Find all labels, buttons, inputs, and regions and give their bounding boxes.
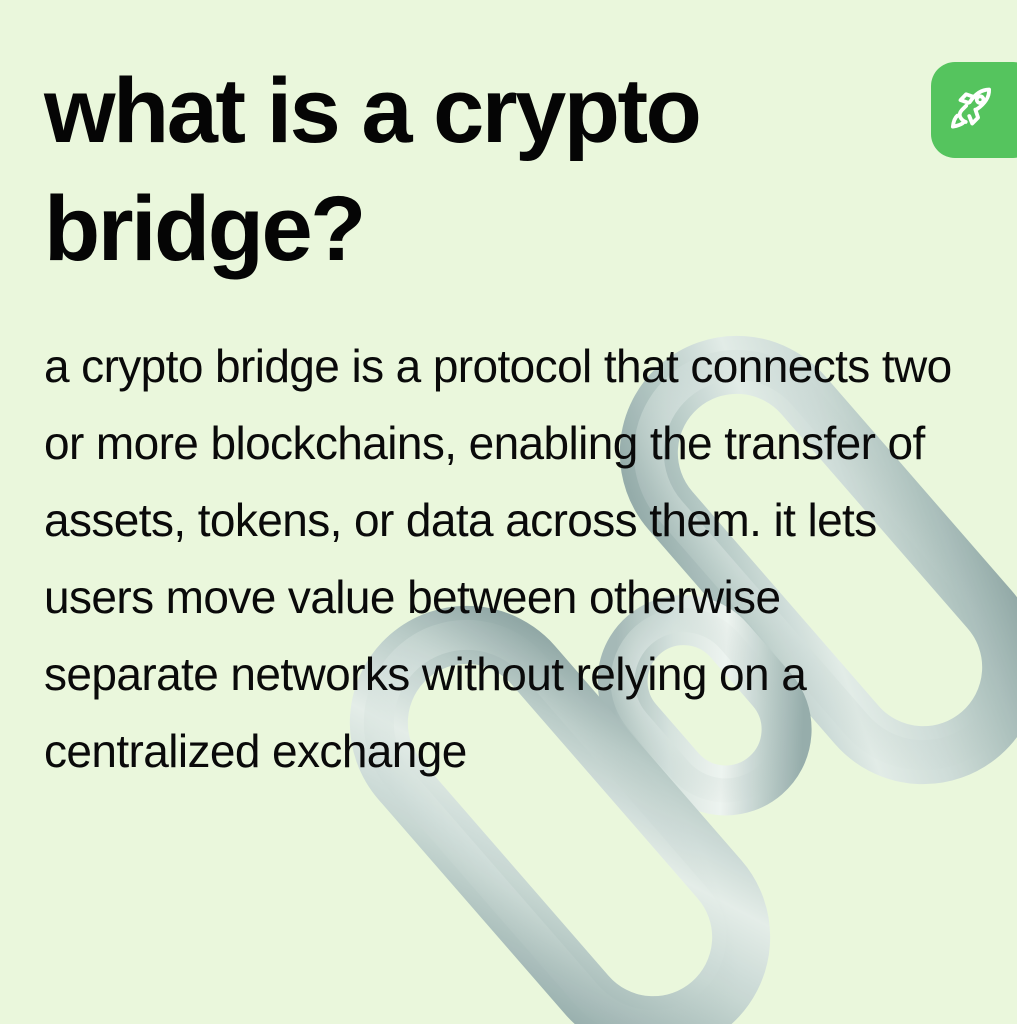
body-paragraph: a crypto bridge is a protocol that conne… (44, 288, 954, 790)
page-title: what is a crypto bridge? (44, 0, 864, 288)
card-content: what is a crypto bridge? a crypto bridge… (44, 0, 984, 790)
rocket-icon (945, 83, 999, 137)
info-card: what is a crypto bridge? a crypto bridge… (0, 0, 1017, 1024)
rocket-badge-button[interactable] (931, 62, 1017, 158)
